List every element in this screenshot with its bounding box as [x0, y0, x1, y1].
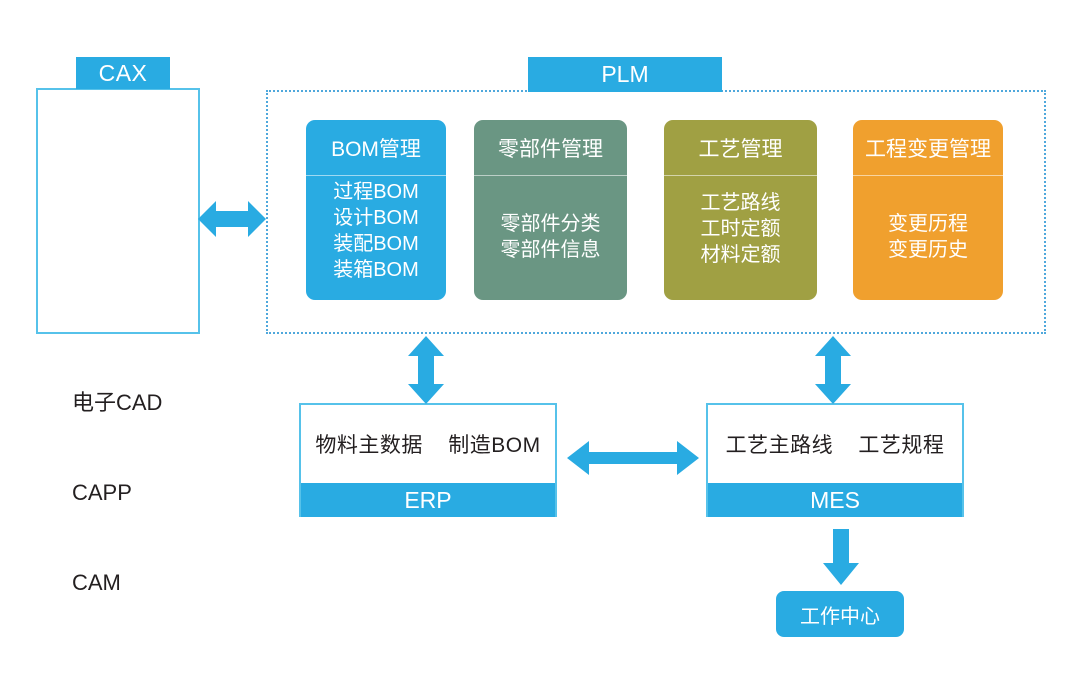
mes-items-line: 工艺主路线 工艺规程 — [708, 405, 962, 483]
erp-box[interactable]: 物料主数据 制造BOM ERP — [299, 403, 557, 517]
plm-mes-arrow-icon — [812, 334, 854, 406]
plm-card-1-item-0: 零部件分类 — [501, 211, 601, 237]
plm-card-2-item-1: 工时定额 — [701, 216, 781, 242]
plm-card-1-items: 零部件分类 零部件信息 — [474, 176, 627, 300]
plm-card-0-item-0: 过程BOM — [333, 179, 419, 205]
cax-box — [36, 88, 200, 334]
plm-card-1-title: 零部件管理 — [474, 120, 627, 176]
plm-header-label: PLM — [528, 57, 722, 92]
plm-card-3-item-0: 变更历程 — [888, 211, 968, 237]
plm-card-0-item-1: 设计BOM — [333, 205, 419, 231]
plm-erp-arrow-icon — [405, 334, 447, 406]
work-center-box[interactable]: 工作中心 — [776, 591, 904, 637]
diagram-canvas: CAX 二维CAD 三维CAD 电子CAD CAPP CAM PLM BOM管理… — [0, 0, 1080, 693]
plm-card-engineering-change-management[interactable]: 工程变更管理 变更历程 变更历史 — [853, 120, 1003, 300]
plm-card-2-item-2: 材料定额 — [701, 242, 781, 268]
plm-card-3-item-1: 变更历史 — [888, 237, 968, 263]
plm-card-3-items: 变更历程 变更历史 — [853, 176, 1003, 300]
erp-items-line: 物料主数据 制造BOM — [301, 405, 555, 483]
plm-card-part-management[interactable]: 零部件管理 零部件分类 零部件信息 — [474, 120, 627, 300]
plm-card-2-items: 工艺路线 工时定额 材料定额 — [664, 176, 817, 300]
cax-header-label: CAX — [76, 57, 170, 89]
erp-label: ERP — [301, 483, 555, 517]
mes-workcenter-arrow-icon — [820, 529, 862, 587]
mes-label: MES — [708, 483, 962, 517]
plm-card-2-title: 工艺管理 — [664, 120, 817, 176]
cax-item-2: 电子CAD — [72, 388, 162, 418]
cax-item-3: CAPP — [72, 478, 162, 508]
plm-card-process-management[interactable]: 工艺管理 工艺路线 工时定额 材料定额 — [664, 120, 817, 300]
plm-card-0-title: BOM管理 — [306, 120, 446, 176]
erp-mes-arrow-icon — [565, 435, 701, 481]
plm-card-2-item-0: 工艺路线 — [701, 190, 781, 216]
mes-box[interactable]: 工艺主路线 工艺规程 MES — [706, 403, 964, 517]
plm-card-0-item-2: 装配BOM — [333, 231, 419, 257]
plm-card-0-item-3: 装箱BOM — [333, 257, 419, 283]
plm-card-3-title: 工程变更管理 — [853, 120, 1003, 176]
plm-card-bom-management[interactable]: BOM管理 过程BOM 设计BOM 装配BOM 装箱BOM — [306, 120, 446, 300]
cax-plm-arrow-icon — [196, 192, 268, 246]
plm-card-1-item-1: 零部件信息 — [501, 237, 601, 263]
plm-card-0-items: 过程BOM 设计BOM 装配BOM 装箱BOM — [306, 176, 446, 300]
cax-item-4: CAM — [72, 568, 162, 598]
